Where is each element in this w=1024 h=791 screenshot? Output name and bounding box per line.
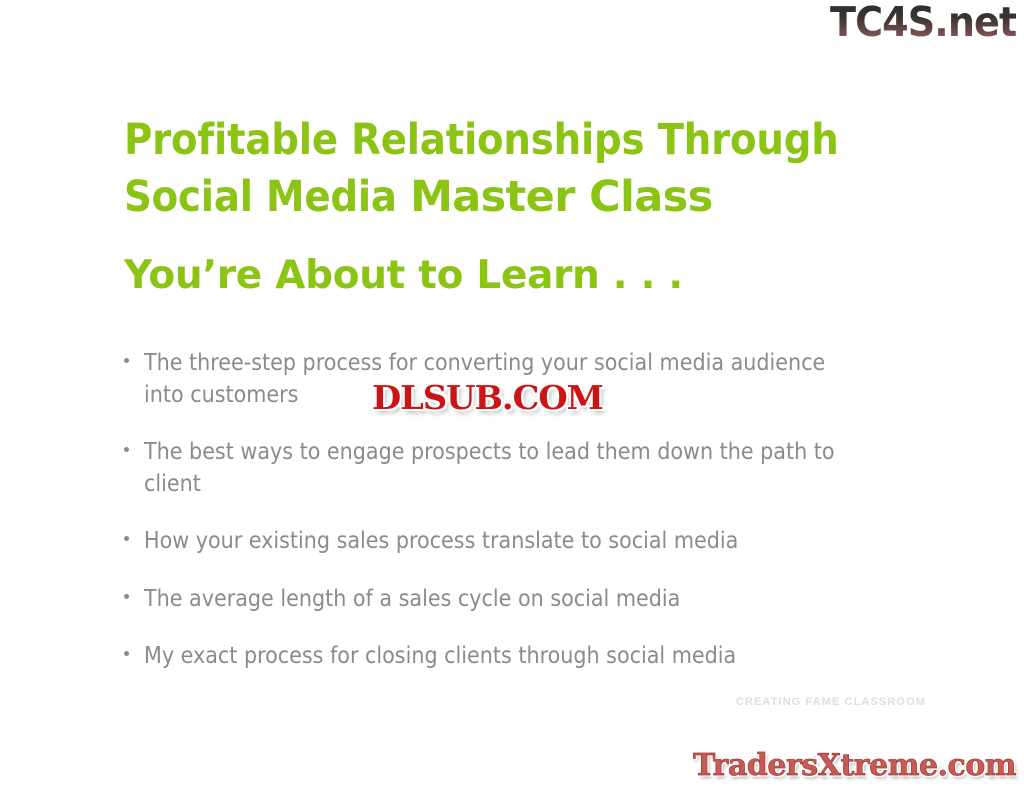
list-item-label: How your existing sales process translat… <box>144 526 874 558</box>
bullet-dot-icon <box>124 536 129 541</box>
list-item: My exact process for closing clients thr… <box>122 641 922 673</box>
slide-footer-caption: CREATING FAME CLASSROOM <box>0 696 926 708</box>
presentation-slide: TC4S.net Profitable Relationships Throug… <box>0 0 1024 791</box>
tradersxtreme-watermark-label: TradersXtreme.com <box>693 748 1016 783</box>
list-item-label: The best ways to engage prospects to lea… <box>144 437 874 500</box>
bullet-dot-icon <box>124 358 129 363</box>
bullet-dot-icon <box>124 447 129 452</box>
list-item: The average length of a sales cycle on s… <box>122 584 922 616</box>
slide-title-line-1: Profitable Relationships Through <box>124 112 924 169</box>
list-item: The best ways to engage prospects to lea… <box>122 437 922 500</box>
slide-title-line-2: Social Media Master Class <box>124 169 924 226</box>
slide-subtitle: You’re About to Learn . . . <box>124 253 683 300</box>
bullet-dot-icon <box>124 594 129 599</box>
slide-title-line-2-part-2: Master Class <box>410 172 713 222</box>
tradersxtreme-watermark-logo: TradersXtreme.com <box>693 748 1016 783</box>
list-item-label: My exact process for closing clients thr… <box>144 641 874 673</box>
bullet-dot-icon <box>124 651 129 656</box>
slide-title-line-2-part-1: Social Media <box>124 172 410 222</box>
dlsub-watermark-logo: DLSUB.COM <box>372 378 603 417</box>
tc4s-watermark-logo: TC4S.net <box>830 2 1016 43</box>
list-item: How your existing sales process translat… <box>122 526 922 558</box>
slide-title-block: Profitable Relationships Through Social … <box>124 112 924 226</box>
list-item-label: The average length of a sales cycle on s… <box>144 584 874 616</box>
